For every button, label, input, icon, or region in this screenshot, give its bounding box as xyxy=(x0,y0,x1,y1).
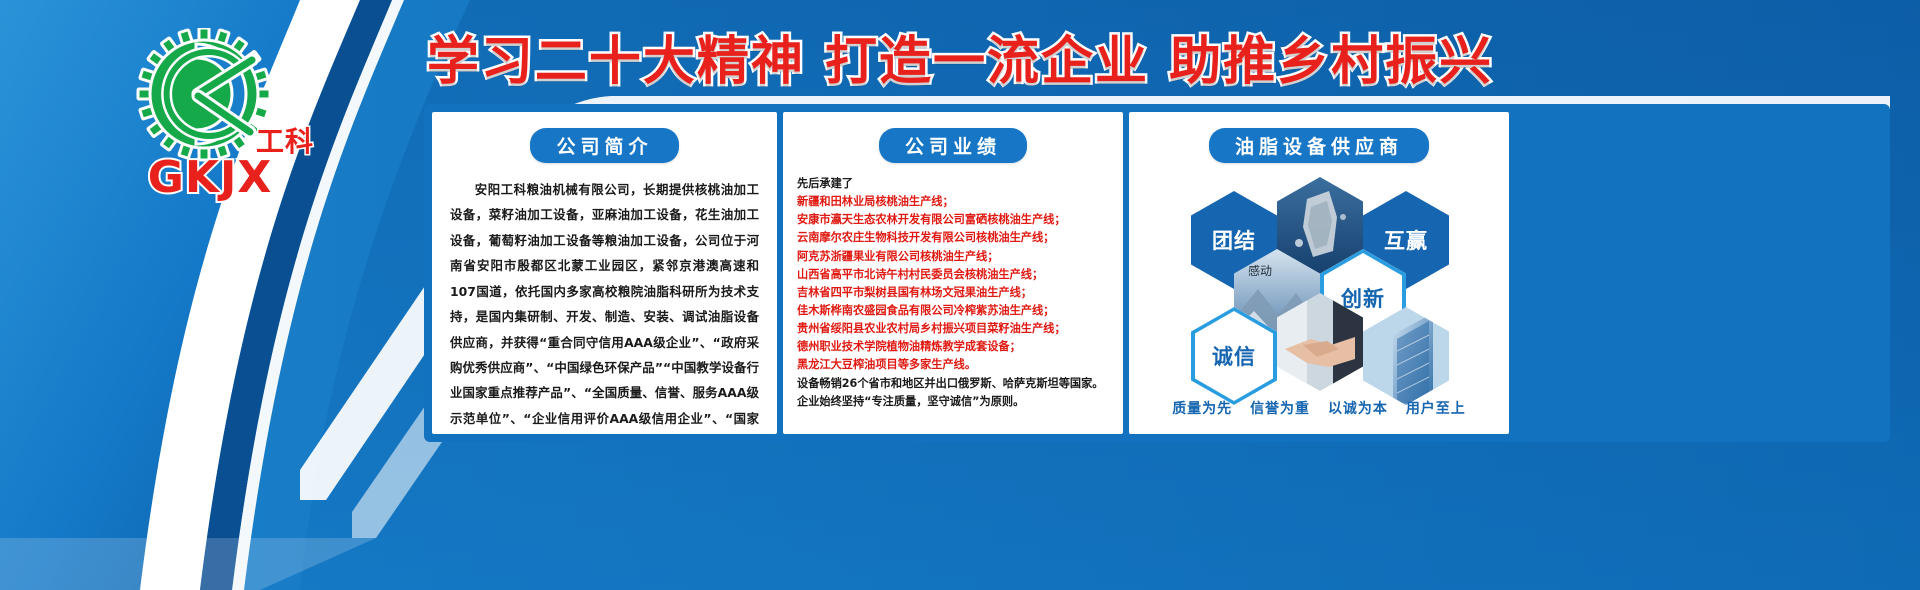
achievement-item: 贵州省绥阳县农业农村局乡村振兴项目菜籽油生产线； xyxy=(797,320,1109,338)
achievement-item: 山西省高平市北诗午村村民委员会核桃油生产线； xyxy=(797,266,1109,284)
poster-canvas: 工科 GKJX 学习二十大精神 打造一流企业 助推乡村振兴 公司简介 安阳工科粮… xyxy=(0,0,1920,590)
panel-heading-row: 油脂设备供应商 xyxy=(1129,128,1509,163)
achievement-item: 云南摩尔农庄生物科技开发有限公司核桃油生产线； xyxy=(797,229,1109,247)
panel-company-achievements: 公司业绩 先后承建了 新疆和田林业局核桃油生产线；安康市瀛天生态农林开发有限公司… xyxy=(783,112,1123,434)
company-profile-body: 安阳工科粮油机械有限公司，长期提供核桃油加工设备，菜籽油加工设备，亚麻油加工设备… xyxy=(450,177,759,434)
slogan-item: 质量为先 xyxy=(1172,401,1232,417)
achievement-item: 德州职业技术学院植物油精炼教学成套设备； xyxy=(797,338,1109,356)
achievement-item: 佳木斯桦南农盛园食品有限公司冷榨紫苏油生产线； xyxy=(797,302,1109,320)
panel-heading-company-achievements: 公司业绩 xyxy=(879,128,1027,163)
supplier-slogan: 质量为先 信誉为重 以诚为本 用户至上 xyxy=(1129,398,1509,418)
panel-row: 公司简介 安阳工科粮油机械有限公司，长期提供核桃油加工设备，菜籽油加工设备，亚麻… xyxy=(432,112,1884,434)
panel-heading-row: 公司简介 xyxy=(432,128,777,163)
achievement-item: 新疆和田林业局核桃油生产线； xyxy=(797,193,1109,211)
achievement-item: 阿克苏浙疆果业有限公司核桃油生产线； xyxy=(797,248,1109,266)
achievement-item: 吉林省四平市梨树县国有林场文冠果油生产线； xyxy=(797,284,1109,302)
hex-label: 创新 xyxy=(1341,283,1385,313)
slogan-item: 信誉为重 xyxy=(1250,401,1310,417)
hex-label: 诚信 xyxy=(1212,341,1256,371)
panel-company-profile: 公司简介 安阳工科粮油机械有限公司，长期提供核桃油加工设备，菜籽油加工设备，亚麻… xyxy=(432,112,777,434)
achievements-lead: 先后承建了 xyxy=(797,175,1109,193)
achievement-tail-line: 设备畅销26个省市和地区并出口俄罗斯、哈萨克斯坦等国家。 xyxy=(797,375,1109,393)
value-hexagon-grid: 团结 互赢 xyxy=(1129,173,1509,383)
achievement-item: 安康市瀛天生态农林开发有限公司富硒核桃油生产线； xyxy=(797,211,1109,229)
achievements-items: 新疆和田林业局核桃油生产线；安康市瀛天生态农林开发有限公司富硒核桃油生产线；云南… xyxy=(797,193,1109,374)
achievements-tail: 设备畅销26个省市和地区并出口俄罗斯、哈萨克斯坦等国家。企业始终坚持“专注质量，… xyxy=(797,375,1109,411)
panel-heading-company-profile: 公司简介 xyxy=(530,128,678,163)
svg-text:感动: 感动 xyxy=(1248,263,1272,278)
panel-heading-row: 公司业绩 xyxy=(783,128,1123,163)
achievements-list: 先后承建了 新疆和田林业局核桃油生产线；安康市瀛天生态农林开发有限公司富硒核桃油… xyxy=(797,175,1109,411)
achievement-item: 黑龙江大豆榨油项目等多家生产线。 xyxy=(797,356,1109,374)
hex-label: 团结 xyxy=(1212,225,1256,255)
company-logo: 工科 GKJX xyxy=(110,28,310,213)
logo-english-name: GKJX xyxy=(110,152,310,203)
slogan-item: 以诚为本 xyxy=(1328,401,1388,417)
achievement-tail-line: 企业始终坚持“专注质量，坚守诚信”为原则。 xyxy=(797,393,1109,411)
panel-heading-equipment-supplier: 油脂设备供应商 xyxy=(1209,128,1429,163)
hex-label: 互赢 xyxy=(1384,225,1428,255)
slogan-item: 用户至上 xyxy=(1406,401,1466,417)
panel-equipment-supplier: 油脂设备供应商 团结 xyxy=(1129,112,1509,434)
